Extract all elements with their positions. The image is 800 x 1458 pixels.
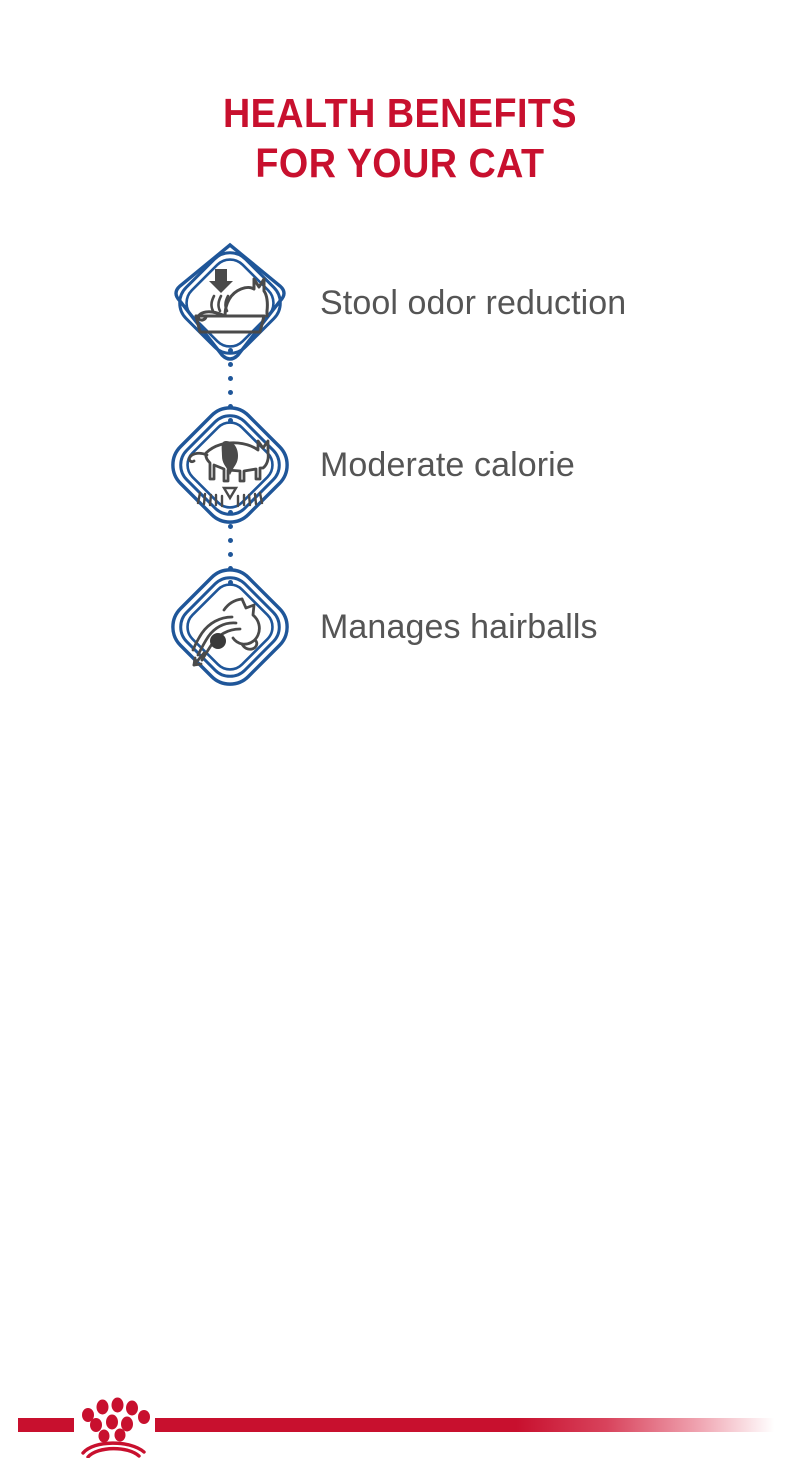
connector-dot [228, 348, 233, 353]
benefit-label: Manages hairballs [320, 607, 598, 647]
connector-dot [228, 376, 233, 381]
connector-dot [228, 510, 233, 515]
page-title-line-2: FOR YOUR CAT [32, 138, 768, 188]
page-title-line-1: HEALTH BENEFITS [32, 88, 768, 138]
benefit-item-manages-hairballs: Manages hairballs [0, 546, 800, 708]
connector-dot [228, 524, 233, 529]
connector-dot [228, 552, 233, 557]
benefit-item-moderate-calorie: Moderate calorie [0, 384, 800, 546]
benefit-item-stool-odor-reduction: Stool odor reduction [0, 222, 800, 384]
benefit-label: Stool odor reduction [320, 283, 626, 323]
connector-dot [228, 580, 233, 585]
benefits-list: Stool odor reduction [0, 222, 800, 708]
cat-litter-box-odor-down-icon [168, 241, 292, 365]
benefit-connector-2 [228, 510, 233, 594]
benefit-label: Moderate calorie [320, 445, 575, 485]
brand-rule-right [155, 1418, 800, 1432]
connector-dot [228, 566, 233, 571]
brand-rule-left [18, 1418, 74, 1432]
page-title: HEALTH BENEFITS FOR YOUR CAT [0, 88, 800, 188]
royal-canin-crown-icon [74, 1396, 154, 1458]
connector-dot [228, 538, 233, 543]
connector-dot [228, 362, 233, 367]
brand-footer [0, 690, 800, 800]
connector-dot [228, 404, 233, 409]
connector-dot [228, 390, 233, 395]
connector-dot [228, 418, 233, 423]
benefit-connector-1 [228, 348, 233, 432]
health-benefits-panel: HEALTH BENEFITS FOR YOUR CAT [0, 0, 800, 800]
